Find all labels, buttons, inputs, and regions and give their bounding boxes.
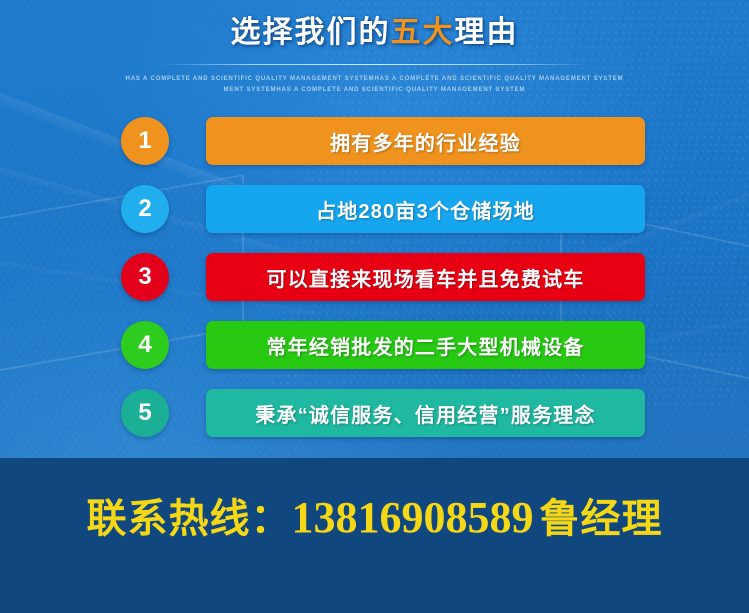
reason-number-2: 2 <box>138 195 151 223</box>
promo-poster: 选择我们的五大理由 HAS A COMPLETE AND SCIENTIFIC … <box>0 0 749 613</box>
reason-bar-3[interactable]: 可以直接来现场看车并且免费试车 <box>206 253 645 301</box>
reason-number-badge-5: 5 <box>121 389 169 437</box>
reason-number-5: 5 <box>138 399 151 427</box>
list-item: 2 占地280亩3个仓储场地 <box>0 185 749 233</box>
contact-phone-number[interactable]: 13816908589 <box>292 493 534 542</box>
reason-bar-2[interactable]: 占地280亩3个仓储场地 <box>206 185 645 233</box>
reason-number-badge-4: 4 <box>121 321 169 369</box>
header-subtitle: HAS A COMPLETE AND SCIENTIFIC QUALITY MA… <box>0 74 749 97</box>
reason-text-4: 常年经销批发的二手大型机械设备 <box>267 331 585 360</box>
reasons-list: 1 拥有多年的行业经验 2 占地280亩3个仓储场地 3 可以直接来现场看车并且… <box>0 117 749 457</box>
list-item: 5 秉承“诚信服务、信用经营”服务理念 <box>0 389 749 437</box>
page-title: 选择我们的五大理由 <box>0 14 749 52</box>
reason-text-3: 可以直接来现场看车并且免费试车 <box>267 263 585 292</box>
reason-bar-1[interactable]: 拥有多年的行业经验 <box>206 117 645 165</box>
reason-number-4: 4 <box>138 331 151 359</box>
poster-header: 选择我们的五大理由 HAS A COMPLETE AND SCIENTIFIC … <box>0 14 749 97</box>
contact-hotline: 联系热线：13816908589鲁经理 <box>87 486 663 544</box>
reason-text-5: 秉承“诚信服务、信用经营”服务理念 <box>255 399 595 428</box>
reason-bar-5[interactable]: 秉承“诚信服务、信用经营”服务理念 <box>206 389 645 437</box>
reason-number-badge-3: 3 <box>121 253 169 301</box>
title-highlight: 五大 <box>391 16 455 49</box>
contact-manager-name: 鲁经理 <box>540 497 663 541</box>
reason-text-1: 拥有多年的行业经验 <box>330 127 521 156</box>
list-item: 3 可以直接来现场看车并且免费试车 <box>0 253 749 301</box>
header-divider <box>160 64 590 65</box>
list-item: 1 拥有多年的行业经验 <box>0 117 749 165</box>
subtitle-line-1: HAS A COMPLETE AND SCIENTIFIC QUALITY MA… <box>0 74 749 86</box>
reason-number-badge-2: 2 <box>121 185 169 233</box>
subtitle-line-2: MENT SYSTEMHAS A COMPLETE AND SCIENTIFIC… <box>0 85 749 97</box>
reason-bar-4[interactable]: 常年经销批发的二手大型机械设备 <box>206 321 645 369</box>
contact-bar: 联系热线：13816908589鲁经理 <box>0 458 749 613</box>
reason-number-1: 1 <box>138 127 151 155</box>
reason-number-badge-1: 1 <box>121 117 169 165</box>
reason-number-3: 3 <box>138 263 151 291</box>
title-prefix: 选择我们的 <box>231 16 391 49</box>
reason-text-2: 占地280亩3个仓储场地 <box>316 195 535 224</box>
list-item: 4 常年经销批发的二手大型机械设备 <box>0 321 749 369</box>
contact-label: 联系热线： <box>87 497 292 541</box>
title-suffix: 理由 <box>455 16 519 49</box>
